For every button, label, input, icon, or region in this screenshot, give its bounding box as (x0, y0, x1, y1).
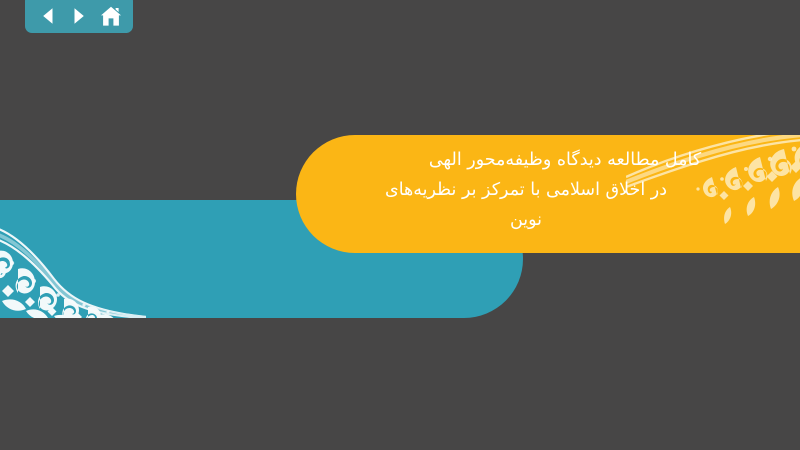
title-line-2: در اخلاق اسلامی با تمرکز بر نظریه‌های (318, 175, 734, 205)
navigation-bar (25, 0, 133, 33)
arabesque-corner-ornament (0, 200, 146, 318)
triangle-right-icon (69, 6, 89, 26)
home-icon (100, 6, 122, 27)
next-button[interactable] (66, 3, 93, 29)
slide-title: کامل مطالعه دیدگاه وظیفه‌محور الهی در اخ… (296, 135, 800, 253)
title-line-3: نوین (318, 205, 734, 235)
title-panel: کامل مطالعه دیدگاه وظیفه‌محور الهی در اخ… (296, 135, 800, 253)
triangle-left-icon (38, 6, 58, 26)
previous-button[interactable] (34, 3, 61, 29)
home-button[interactable] (97, 3, 124, 29)
slide-viewer: کامل مطالعه دیدگاه وظیفه‌محور الهی در اخ… (0, 0, 800, 450)
title-line-1: کامل مطالعه دیدگاه وظیفه‌محور الهی (318, 145, 800, 175)
